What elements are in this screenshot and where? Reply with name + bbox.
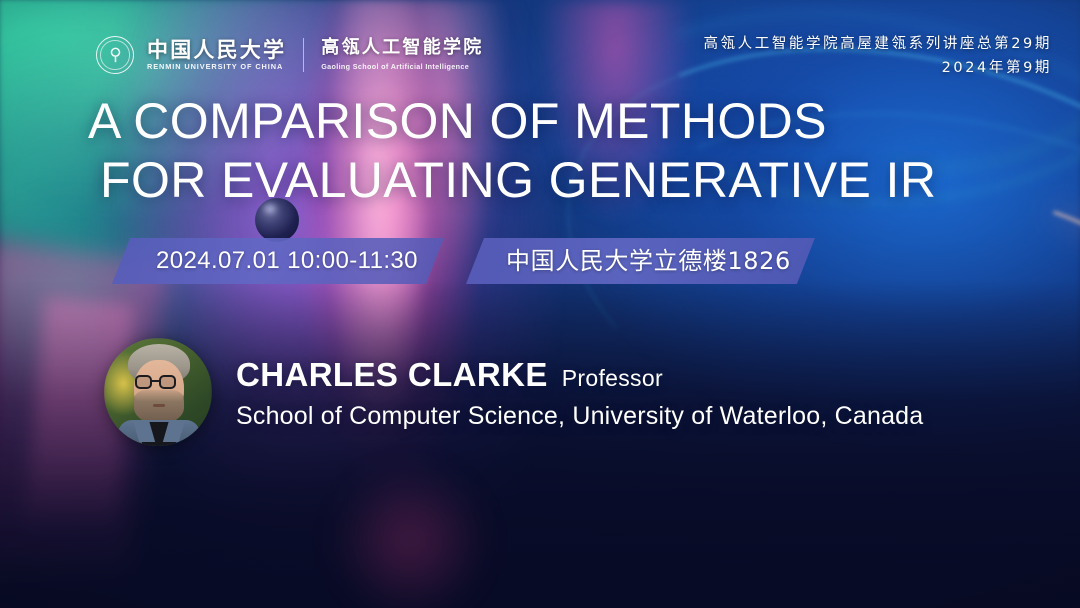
portrait-glasses-left (135, 375, 152, 389)
poster-content: ⚲ 中国人民大学 RENMIN UNIVERSITY OF CHINA 高瓴人工… (0, 0, 1080, 608)
university-name-block: 中国人民大学 RENMIN UNIVERSITY OF CHINA (147, 40, 286, 70)
speaker-name: CHARLES CLARKE (236, 358, 548, 391)
portrait-mouth (153, 404, 165, 407)
seal-glyph: ⚲ (97, 37, 133, 73)
speaker-role: Professor (562, 367, 663, 390)
logo-divider (303, 38, 304, 72)
speaker-details: CHARLES CLARKE Professor School of Compu… (236, 338, 923, 429)
datetime-text: 2024.07.01 10:00-11:30 (156, 249, 418, 273)
university-name-cn: 中国人民大学 (147, 40, 286, 61)
portrait-beard (134, 390, 184, 424)
school-name-en: Gaoling School of Artificial Intelligenc… (321, 63, 483, 70)
lecture-poster: ⚲ 中国人民大学 RENMIN UNIVERSITY OF CHINA 高瓴人工… (0, 0, 1080, 608)
speaker-portrait-avatar (104, 338, 212, 446)
speaker-block: CHARLES CLARKE Professor School of Compu… (104, 338, 923, 446)
title-line-2: FOR EVALUATING GENERATIVE IR (100, 151, 936, 210)
venue-text: 中国人民大学立德楼1826 (506, 249, 791, 273)
school-name-block: 高瓴人工智能学院 Gaoling School of Artificial In… (321, 39, 483, 70)
series-issue-line: 2024年第9期 (703, 56, 1052, 81)
title-line-1: A COMPARISON OF METHODS (88, 92, 936, 151)
institution-logo-lockup: ⚲ 中国人民大学 RENMIN UNIVERSITY OF CHINA 高瓴人工… (96, 36, 484, 74)
series-number-line: 高瓴人工智能学院高屋建瓴系列讲座总第29期 (703, 34, 1052, 56)
page-title: A COMPARISON OF METHODS FOR EVALUATING G… (88, 92, 936, 210)
university-seal-icon: ⚲ (96, 36, 134, 74)
university-name-en: RENMIN UNIVERSITY OF CHINA (147, 63, 289, 70)
school-name-cn: 高瓴人工智能学院 (321, 39, 483, 57)
venue-badge: 中国人民大学立德楼1826 (466, 238, 815, 284)
portrait-glasses-bridge (152, 380, 159, 382)
speaker-affiliation: School of Computer Science, University o… (236, 404, 923, 429)
speaker-name-row: CHARLES CLARKE Professor (236, 358, 923, 391)
lecture-series-info: 高瓴人工智能学院高屋建瓴系列讲座总第29期 2024年第9期 (703, 34, 1052, 81)
datetime-badge: 2024.07.01 10:00-11:30 (112, 238, 444, 284)
portrait-glasses-right (159, 375, 176, 389)
